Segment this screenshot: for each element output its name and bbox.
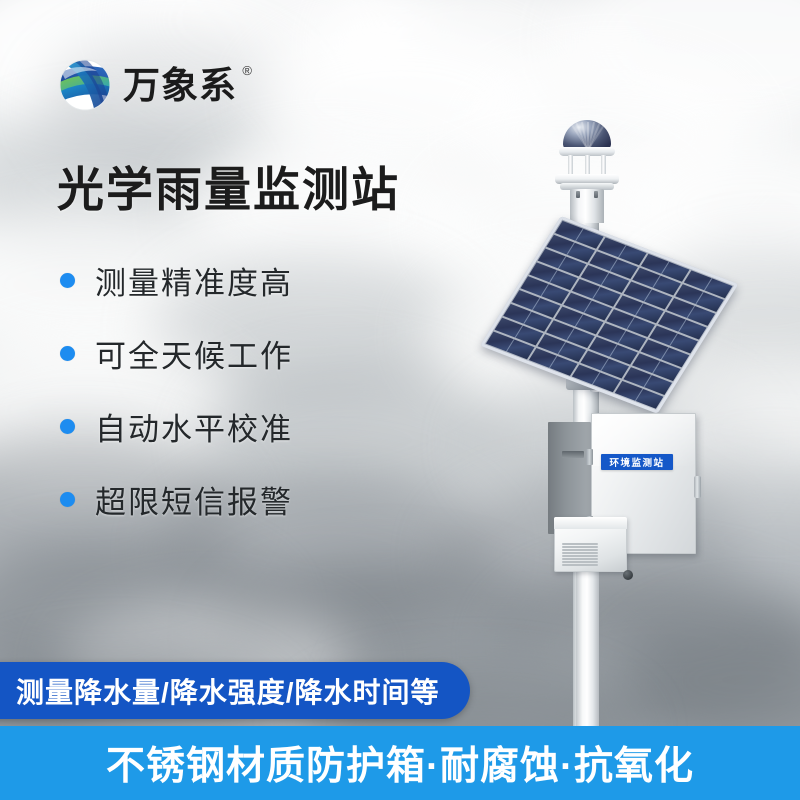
enclosure-side-vent (562, 451, 584, 458)
pill-banner: 测量降水量/降水强度/降水时间等 (0, 662, 470, 719)
pill-banner-text: 测量降水量/降水强度/降水时间等 (16, 671, 440, 711)
feature-list: 测量精准度高 可全天候工作 自动水平校准 超限短信报警 (60, 259, 293, 551)
product-poster: 环境监测站 (0, 0, 800, 800)
junction-box-grille (562, 543, 598, 565)
sensor-post-right (601, 155, 606, 175)
blue-dot-icon (60, 346, 75, 361)
feature-label: 自动水平校准 (95, 404, 293, 449)
brand-name-text: 万象系 (123, 65, 237, 106)
page-title: 光学雨量监测站 (57, 166, 400, 213)
list-item: 自动水平校准 (60, 405, 293, 447)
blue-dot-icon (60, 419, 75, 434)
list-item: 测量精准度高 (60, 259, 293, 301)
enclosure-label-text: 环境监测站 (609, 455, 664, 469)
solar-cell-grid (486, 221, 733, 409)
globe-swirl-logo-icon (57, 57, 113, 113)
optical-rain-sensor-icon (552, 120, 622, 220)
list-item: 超限短信报警 (60, 478, 293, 520)
feature-label: 超限短信报警 (95, 477, 293, 522)
enclosure-hinge-top (586, 449, 593, 465)
sensor-bolt-left (576, 191, 580, 198)
sensor-post-mid (585, 155, 590, 175)
solar-panel-icon (561, 216, 776, 396)
equipment-enclosure-icon: 环境监测站 (548, 413, 714, 573)
blue-dot-icon (60, 492, 75, 507)
cable-gland-cap (623, 570, 633, 580)
bottom-banner-text: 不锈钢材质防护箱·耐腐蚀·抗氧化 (106, 735, 694, 791)
feature-label: 可全天候工作 (95, 331, 293, 376)
sensor-bolt-right (594, 191, 598, 198)
bottom-banner: 不锈钢材质防护箱·耐腐蚀·抗氧化 (0, 726, 800, 800)
sensor-dome-icon (563, 120, 611, 150)
brand-logo[interactable]: 万象系 ® (57, 57, 237, 113)
enclosure-label-sticker: 环境监测站 (601, 454, 673, 470)
trademark-symbol: ® (242, 64, 253, 77)
sensor-post-left (568, 155, 573, 175)
brand-name: 万象系 ® (123, 67, 237, 104)
mast-pole-lower-icon (576, 560, 599, 730)
blue-dot-icon (60, 273, 75, 288)
enclosure-latch (694, 476, 701, 498)
list-item: 可全天候工作 (60, 332, 293, 374)
feature-label: 测量精准度高 (95, 258, 293, 303)
solar-panel-frame (480, 216, 738, 414)
junction-box-lid (554, 517, 627, 529)
